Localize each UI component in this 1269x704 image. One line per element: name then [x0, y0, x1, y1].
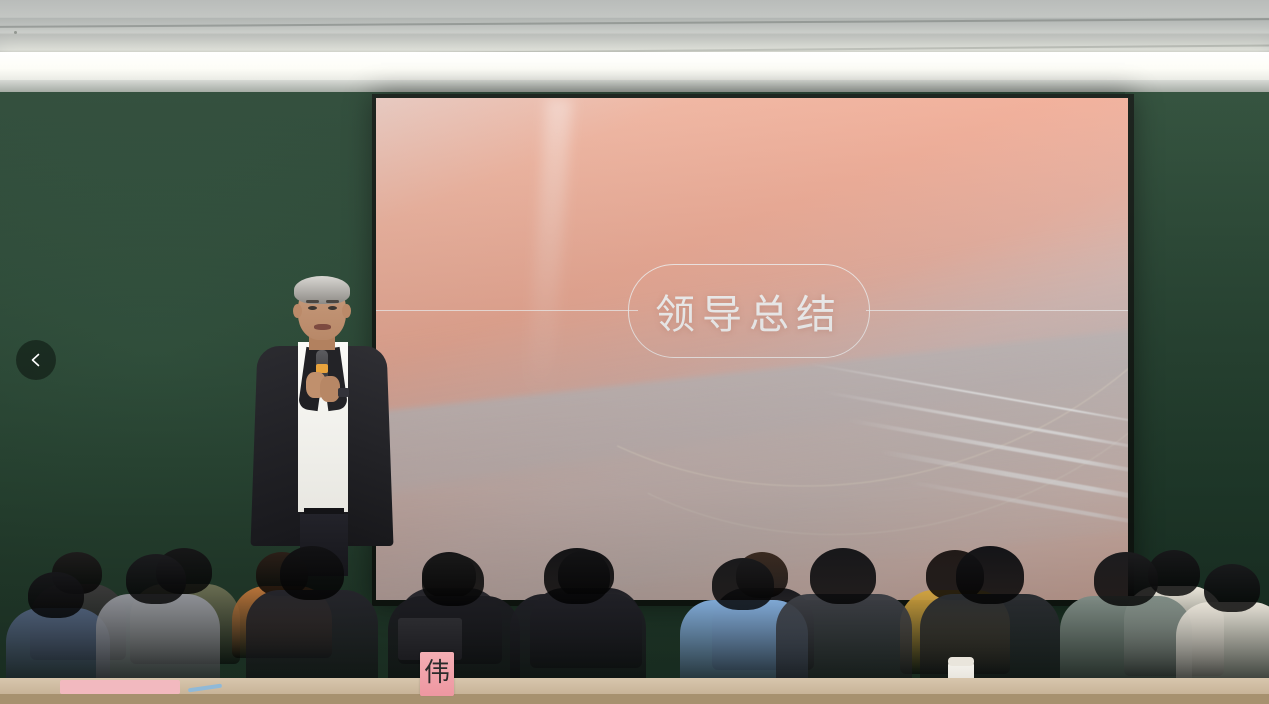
audience: 伟 [0, 430, 1269, 704]
audience-person-head [126, 554, 186, 604]
audience-person-head [810, 548, 876, 604]
audience-person-head [712, 558, 774, 610]
audience-person-head [422, 554, 484, 606]
speaker-ear [342, 304, 351, 318]
speaker-hair [294, 276, 350, 304]
speaker-mouth [314, 324, 331, 330]
ceiling [0, 0, 1269, 96]
speaker-eye [308, 306, 317, 310]
ceiling-seam [0, 18, 1269, 28]
thermos-cap [948, 657, 974, 666]
led-light-strip [0, 52, 1269, 82]
chevron-left-icon [28, 352, 44, 368]
speaker-eyebrow [326, 300, 339, 303]
desk-front-edge [0, 694, 1269, 704]
audience-person-head [1094, 552, 1158, 606]
ceiling-screw [14, 31, 17, 34]
speaker-watch [338, 388, 349, 397]
audience-person-head [1204, 564, 1260, 612]
speaker-hand [320, 376, 340, 402]
audience-person-head [28, 572, 84, 618]
photo-viewer: 领导总结 伟 [0, 0, 1269, 704]
name-placard-char: 伟 [420, 658, 454, 686]
speaker-eye [328, 306, 337, 310]
name-placard: 伟 [420, 652, 454, 696]
audience-person-head [280, 546, 344, 600]
prev-photo-button[interactable] [16, 340, 56, 380]
speaker-ear [293, 304, 302, 318]
audience-person-head [956, 546, 1024, 604]
pink-papers [60, 680, 180, 694]
speaker-eyebrow [306, 300, 319, 303]
audience-person-head [544, 548, 610, 604]
